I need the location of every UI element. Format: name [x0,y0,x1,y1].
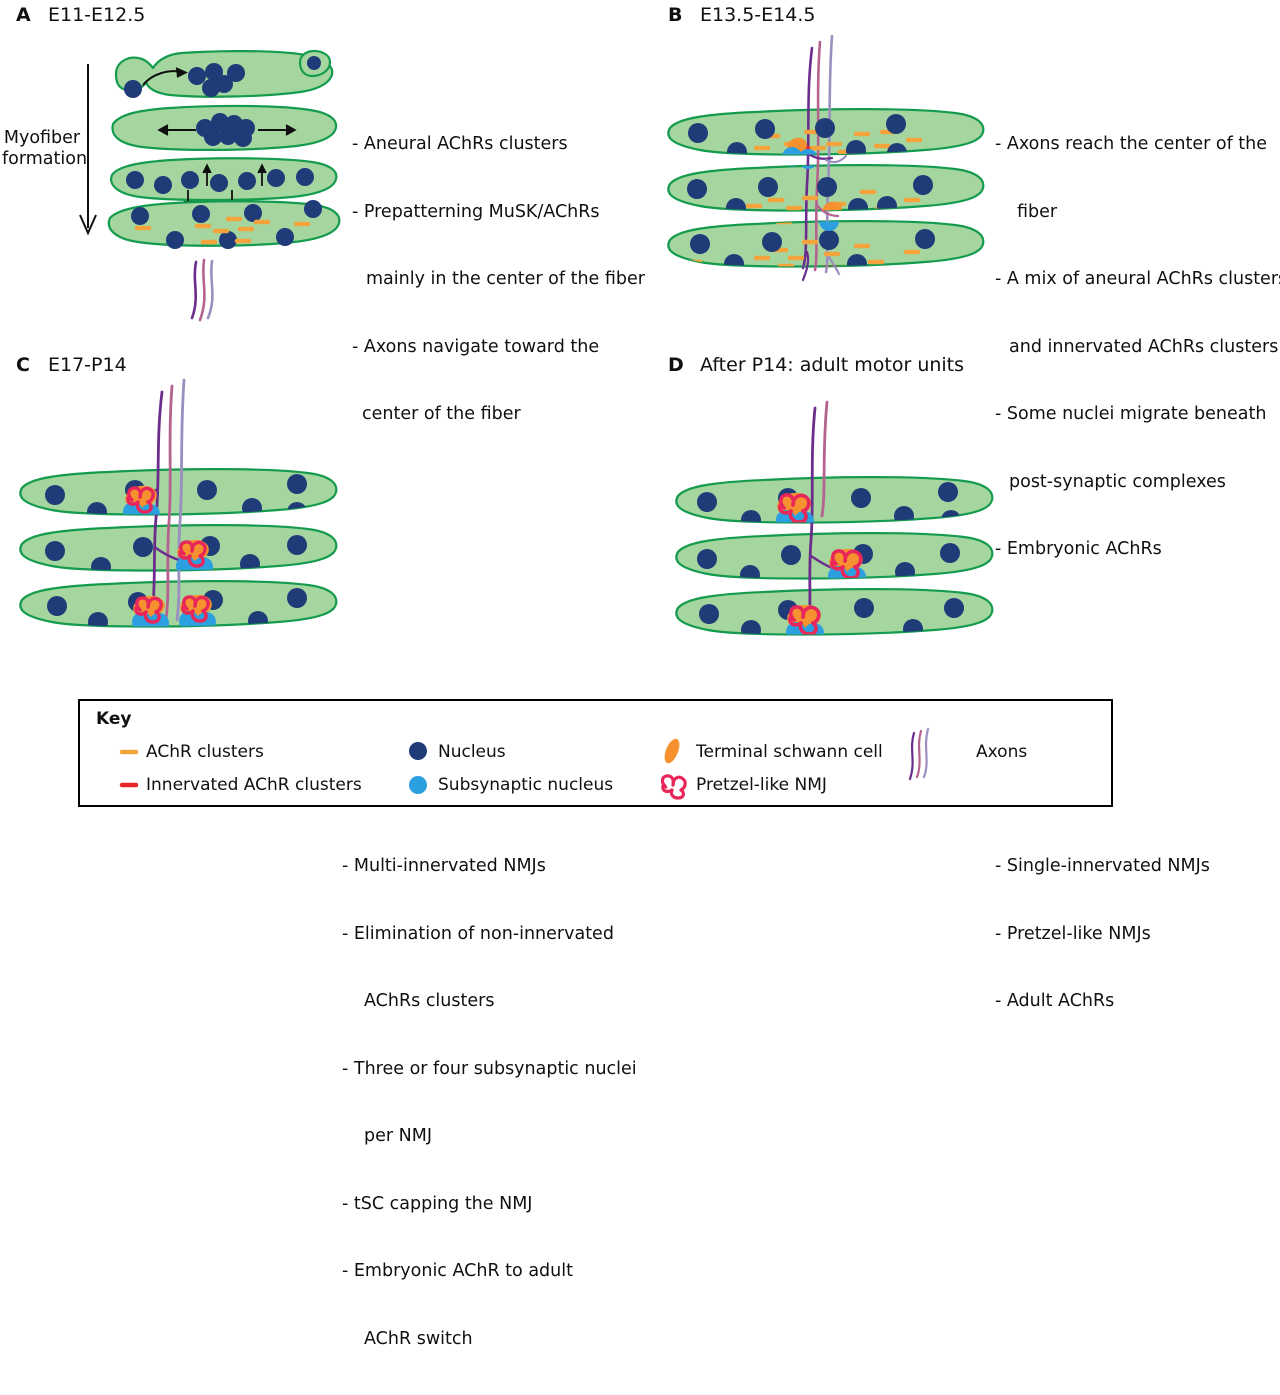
subsynaptic-nucleus-dot-icon [409,776,427,794]
note-item: - Aneural AChRs clusters [352,133,652,156]
panel-c: C E17-P14 [0,340,660,680]
panel-d: D After P14: adult motor units [660,340,1280,680]
panel-c-graphic [0,340,660,680]
key-label-subsynaptic-nucleus: Subsynaptic nucleus [438,775,613,795]
note-continuation: mainly in the center of the fiber [352,268,652,291]
note-item: - Pretzel-like NMJs [995,923,1275,946]
panel-d-graphic [660,340,1280,680]
key-box: Key [78,699,1113,807]
note-item: - A mix of aneural AChRs clusters [995,268,1280,291]
note-item: - Single-innervated NMJs [995,855,1275,878]
note-item: - Embryonic AChR to adult [342,1260,642,1283]
axons-icon [910,729,928,779]
myofiber-stage-2 [112,106,336,150]
myofiber-formation-arrow [80,64,96,233]
note-item: - Elimination of non-innervated [342,923,642,946]
note-continuation: AChR switch [342,1328,642,1351]
panel-d-notes: - Single-innervated NMJs - Pretzel-like … [995,810,1275,1058]
key-label-pretzel-nmj: Pretzel-like NMJ [696,775,827,795]
myofiber-stage-1 [116,51,332,98]
panel-b: B E13.5-E14.5 [660,0,1280,340]
key-label-terminal-schwann-cell: Terminal schwann cell [696,742,883,762]
nucleus-dot-icon [409,742,427,760]
note-item: - Axons reach the center of the [995,133,1280,156]
key-label-nucleus: Nucleus [438,742,506,762]
note-item: - Three or four subsynaptic nuclei [342,1058,642,1081]
note-item: - tSC capping the NMJ [342,1193,642,1216]
key-label-achr-clusters: AChR clusters [146,742,264,762]
note-continuation: fiber [995,201,1280,224]
note-item: - Adult AChRs [995,990,1275,1013]
panel-c-notes: - Multi-innervated NMJs - Elimination of… [342,810,642,1395]
note-item: - Prepatterning MuSK/AChRs [352,201,652,224]
pretzel-nmj-icon [662,776,685,798]
key-label-axons: Axons [976,742,1027,762]
terminal-schwann-cell-icon [662,737,683,766]
note-continuation: AChRs clusters [342,990,642,1013]
myofiber-stage-4 [109,200,340,249]
key-label-innervated-achr-clusters: Innervated AChR clusters [146,775,362,795]
panel-a: A E11-E12.5 Myofiber formation [0,0,660,340]
note-item: - Multi-innervated NMJs [342,855,642,878]
note-continuation: per NMJ [342,1125,642,1148]
axons-bundle-a [192,260,212,320]
